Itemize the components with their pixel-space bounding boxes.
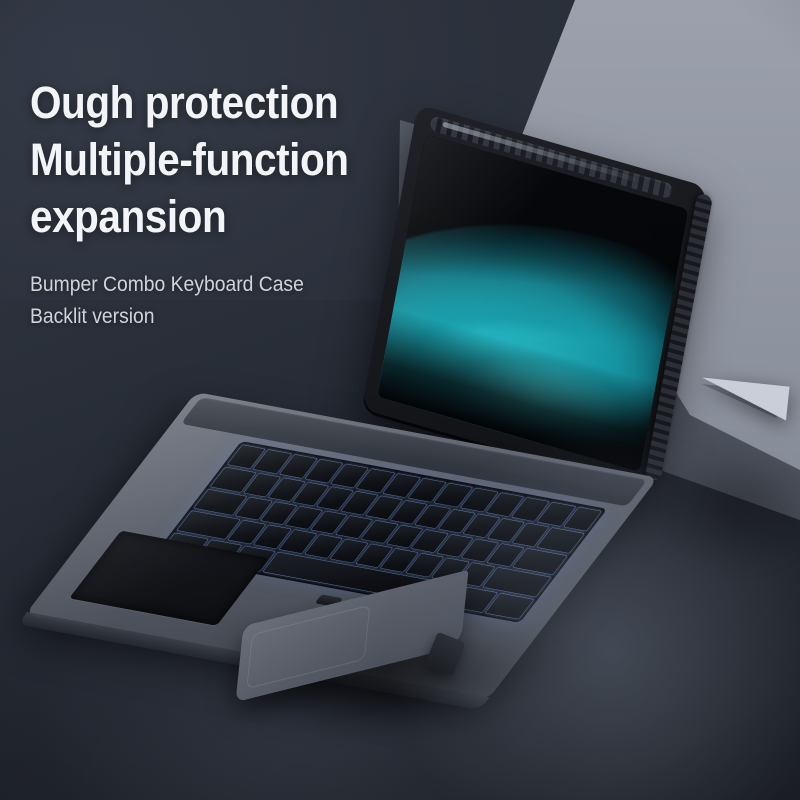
marketing-copy: Ough protection Multiple-function expans… bbox=[30, 74, 460, 333]
headline-line-2: Multiple-function bbox=[30, 131, 417, 188]
subtitle-block: Bumper Combo Keyboard Case Backlit versi… bbox=[30, 269, 460, 333]
subtitle-line-2: Backlit version bbox=[30, 301, 426, 333]
subtitle-line-1: Bumper Combo Keyboard Case bbox=[30, 269, 426, 301]
product-banner: Ough protection Multiple-function expans… bbox=[0, 0, 800, 800]
headline-line-3: expansion bbox=[30, 188, 417, 245]
headline-line-1: Ough protection bbox=[30, 74, 417, 131]
